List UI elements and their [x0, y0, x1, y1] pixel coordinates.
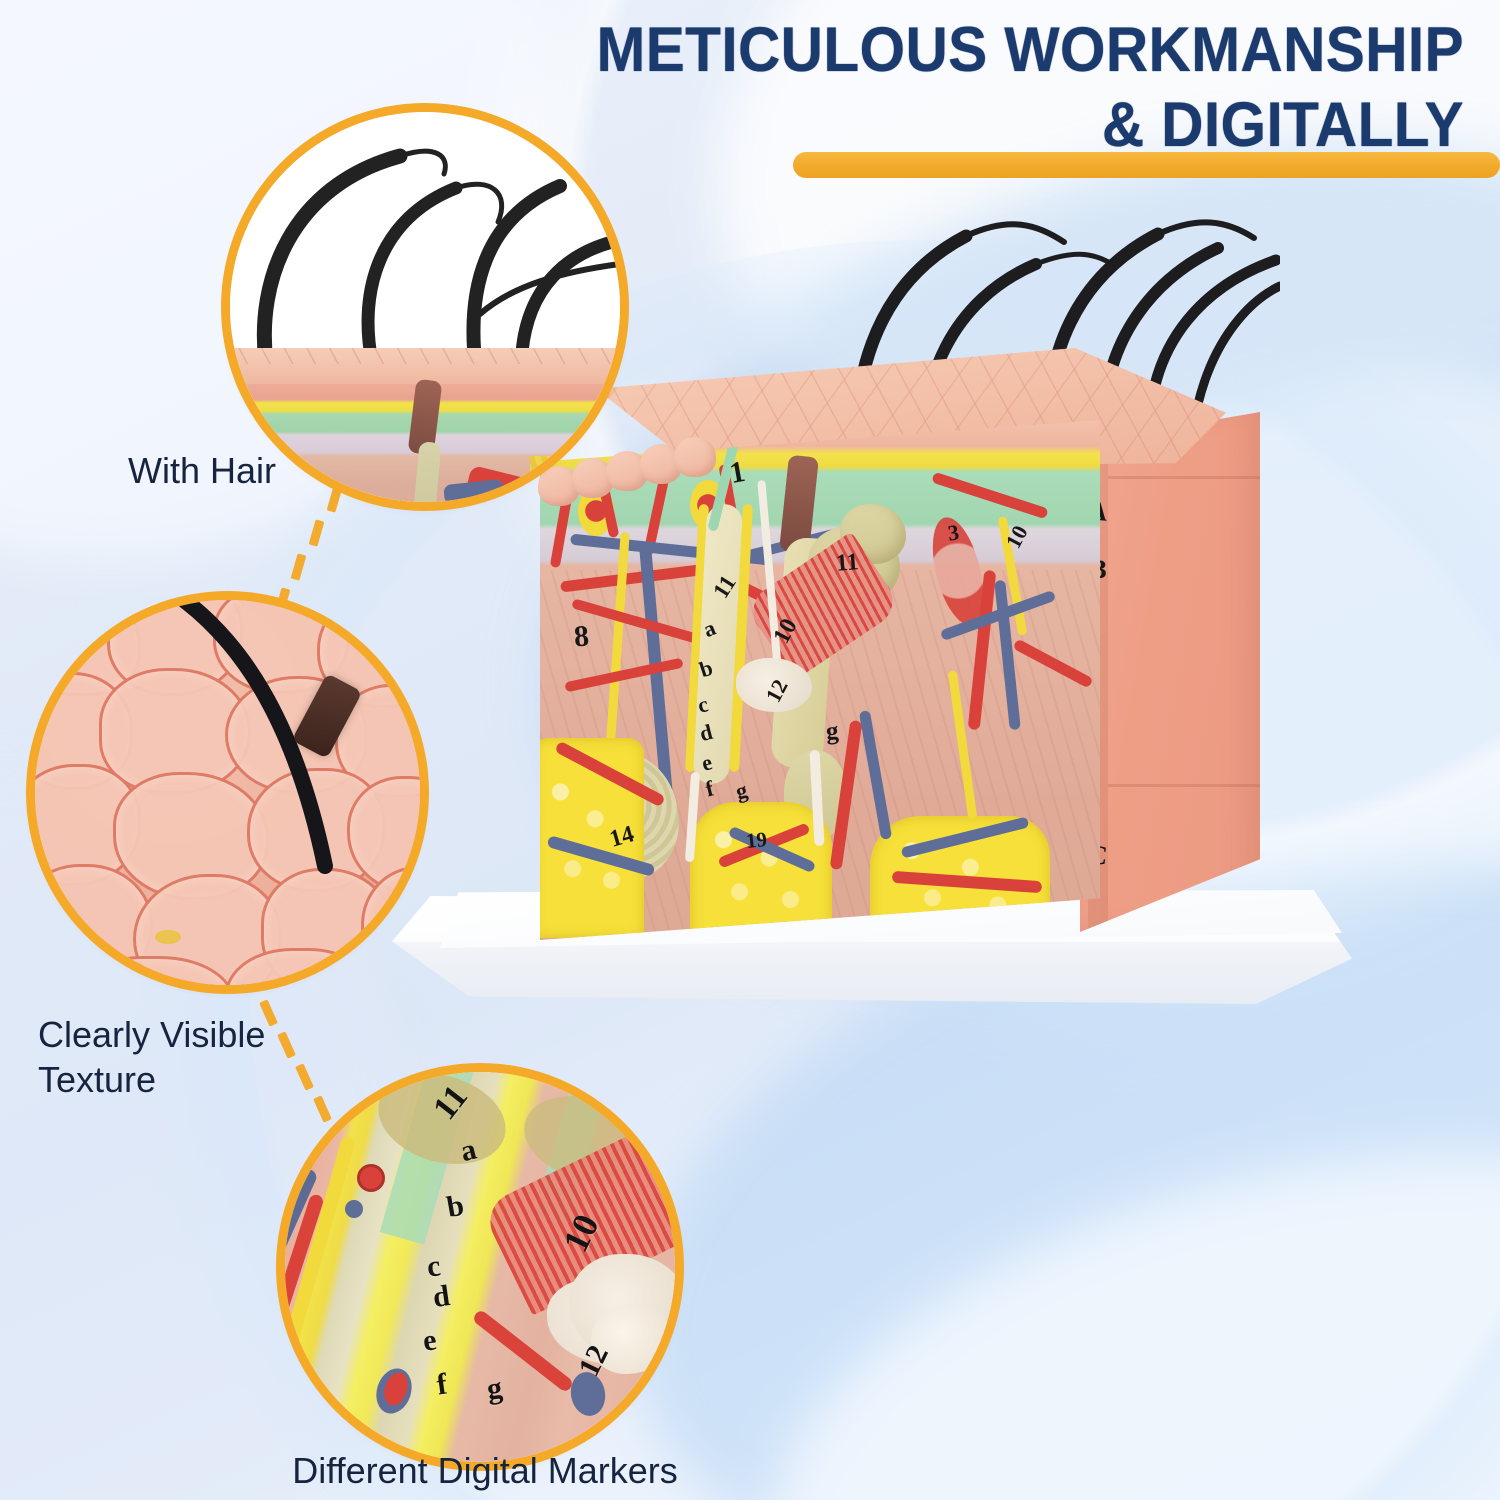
callout-with-hair	[230, 112, 620, 502]
capillary-dot-blue	[345, 1200, 363, 1218]
headline-line-1: METICULOUS WORKMANSHIP	[102, 14, 1464, 86]
marker-19: 19	[745, 827, 768, 854]
dashed-connector-1	[236, 486, 356, 616]
page-title: METICULOUS WORKMANSHIP & DIGITALLY	[0, 14, 1500, 164]
callout-texture	[35, 600, 420, 985]
marker-g-bulb: g	[825, 718, 839, 747]
texture-speck	[155, 930, 181, 944]
marker-11-gland: 11	[835, 549, 860, 578]
callout-label-texture-line2: Texture	[38, 1059, 156, 1100]
callout-label-digital-markers: Different Digital Markers	[290, 1448, 680, 1493]
marker-8: 8	[573, 620, 590, 655]
product-marketing-image: METICULOUS WORKMANSHIP & DIGITALLY A B C	[0, 0, 1500, 1500]
callout-label-texture-line1: Clearly Visible	[38, 1014, 265, 1055]
callout-digital-markers: 11 a b c d e f g 10 12	[285, 1072, 675, 1462]
skin-block: A B C	[540, 420, 1240, 940]
callout-label-texture: Clearly Visible Texture	[38, 1012, 265, 1102]
capillary-dot-red	[357, 1164, 385, 1192]
callout-label-with-hair: With Hair	[128, 448, 276, 493]
